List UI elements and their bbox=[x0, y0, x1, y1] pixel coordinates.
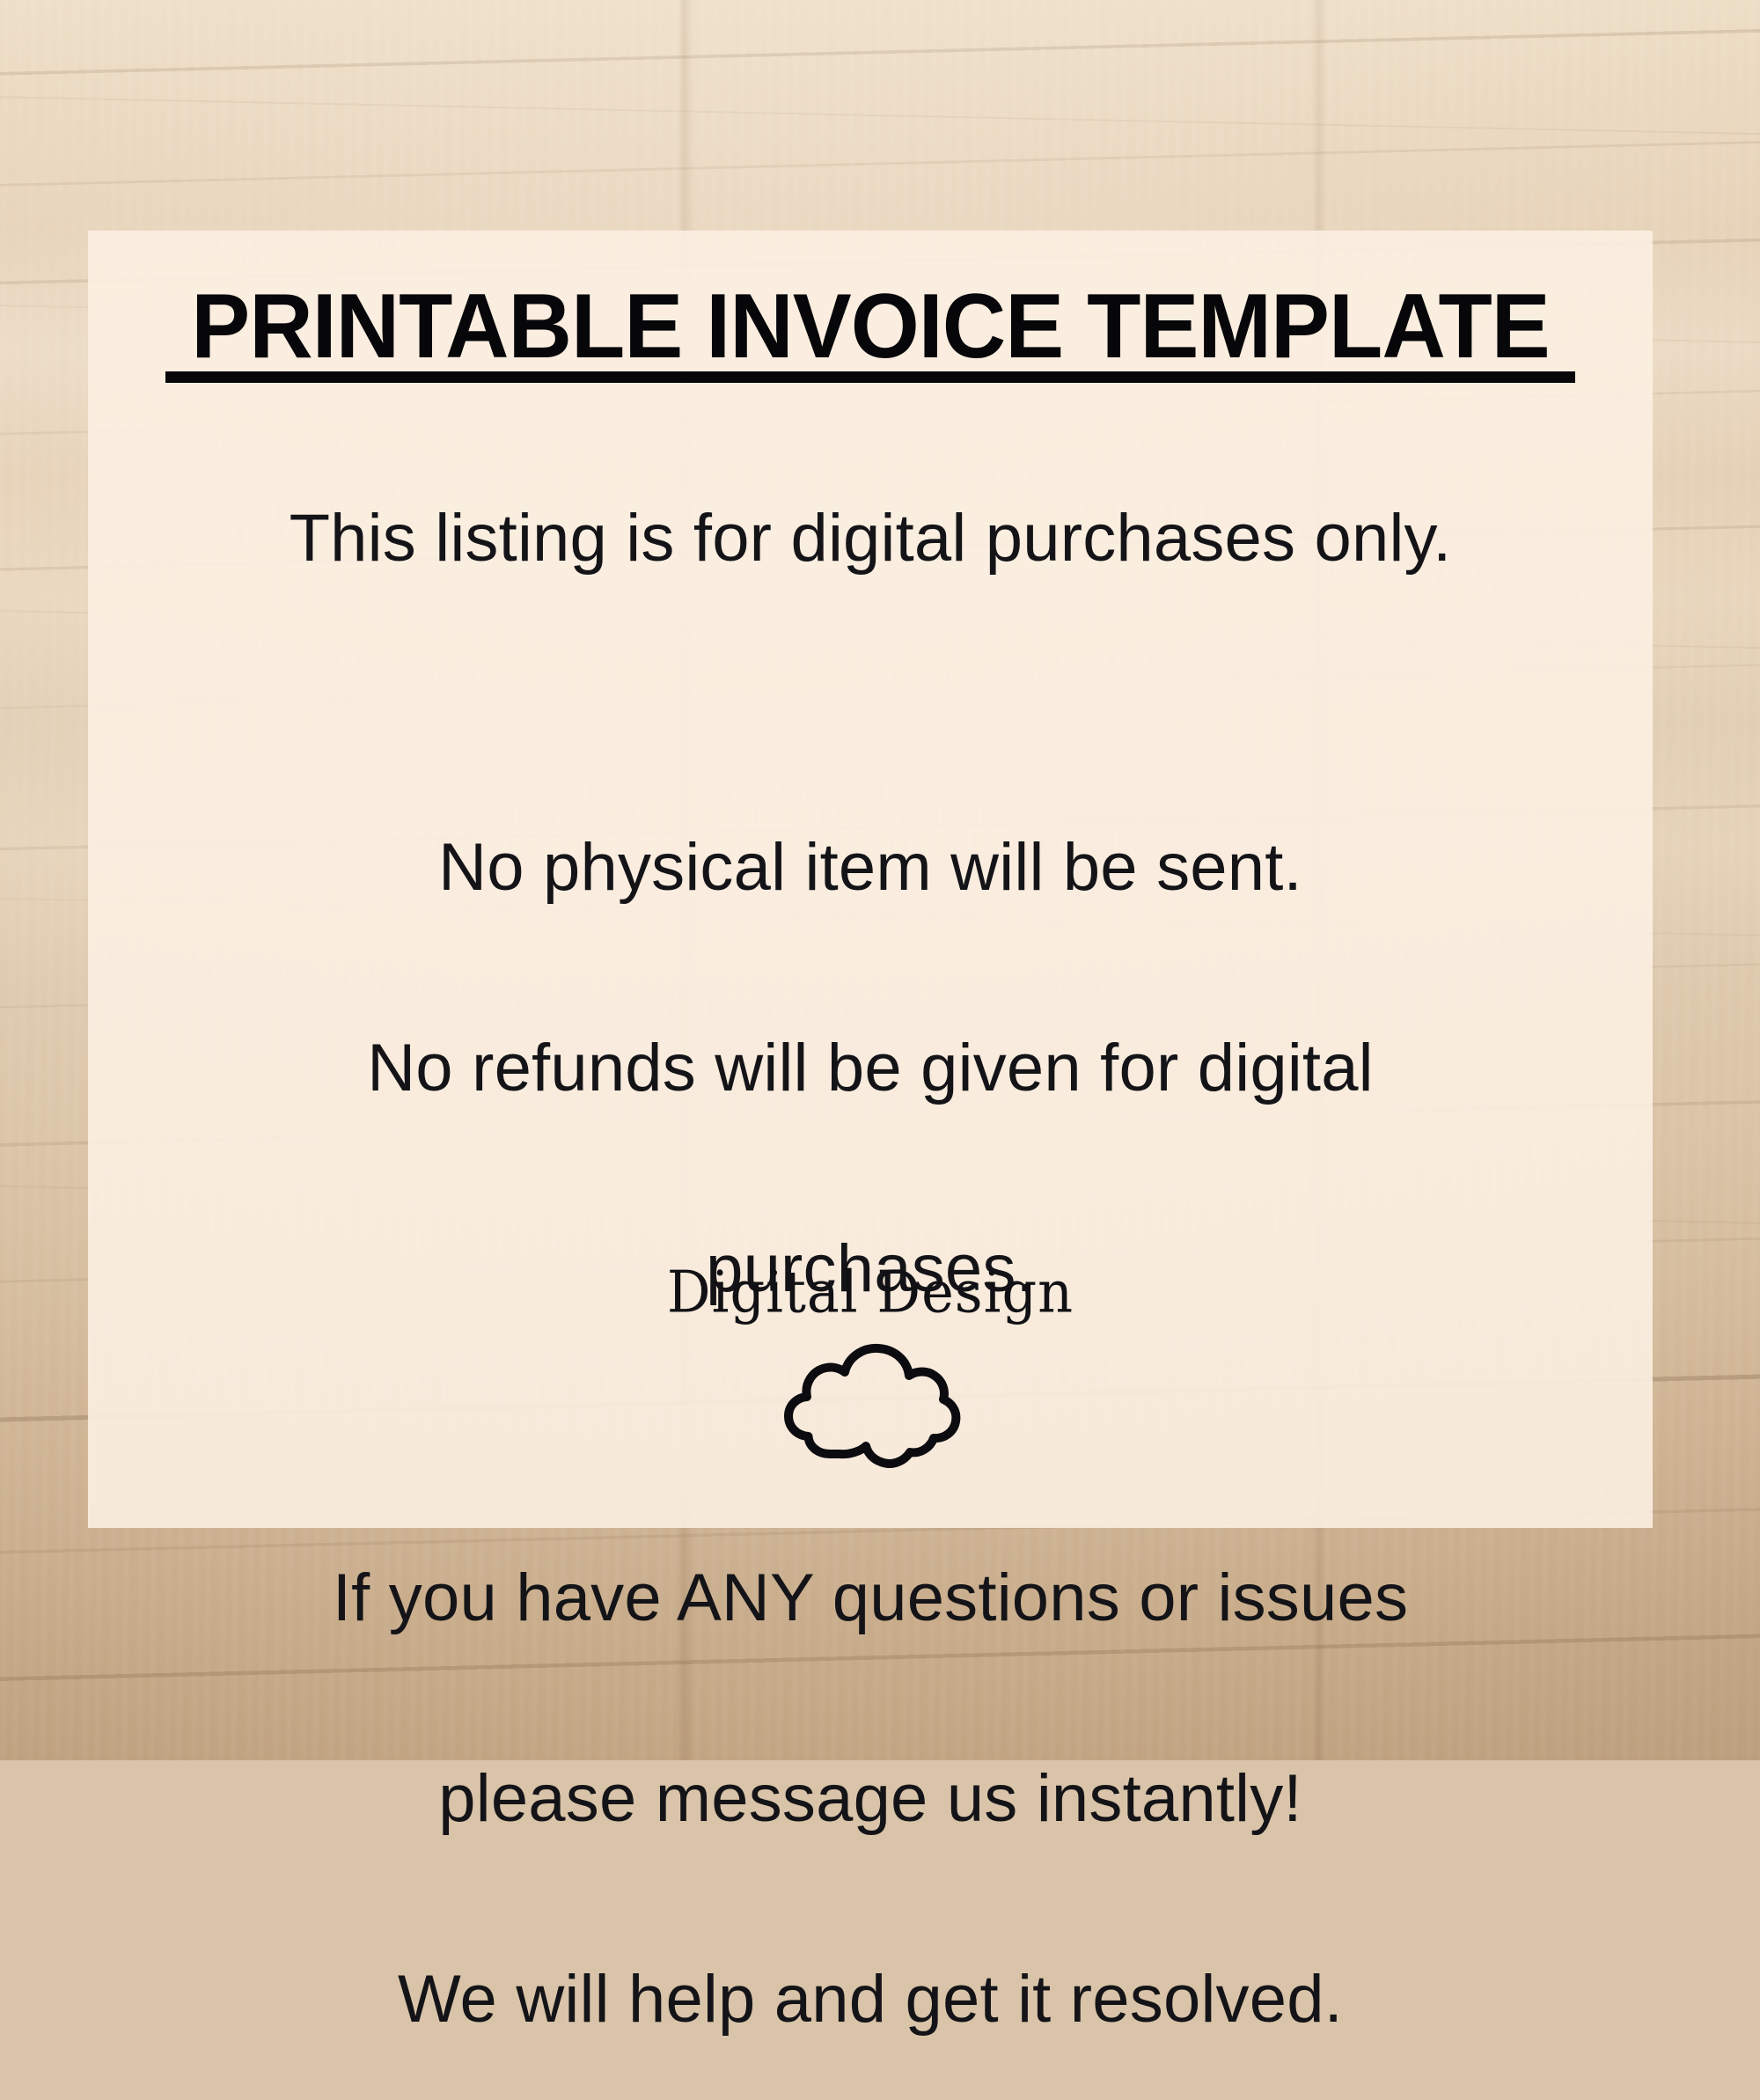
paragraph-line: No physical item will be sent. bbox=[88, 834, 1653, 901]
page-title: PRINTABLE INVOICE TEMPLATE bbox=[115, 281, 1625, 372]
paragraph-line: We will help and get it resolved. bbox=[88, 1966, 1653, 2033]
paragraph-line: please message us instantly! bbox=[88, 1766, 1653, 1832]
paragraph-line: No refunds will be given for digital bbox=[88, 1035, 1653, 1102]
paragraph-line: This listing is for digital purchases on… bbox=[88, 505, 1653, 572]
brand-block: Digital Design bbox=[88, 1265, 1653, 1469]
paragraph-support: If you have ANY questions or issues plea… bbox=[88, 1498, 1653, 2100]
paragraph-digital-only: This listing is for digital purchases on… bbox=[88, 438, 1653, 639]
brand-name: Digital Design bbox=[667, 1263, 1074, 1321]
title-underline bbox=[165, 371, 1575, 383]
paragraph-gap bbox=[88, 639, 1653, 767]
listing-info-card: PRINTABLE INVOICE TEMPLATE This listing … bbox=[88, 231, 1653, 1528]
paragraph-line: If you have ANY questions or issues bbox=[88, 1565, 1653, 1632]
cloud-icon bbox=[774, 1337, 967, 1469]
